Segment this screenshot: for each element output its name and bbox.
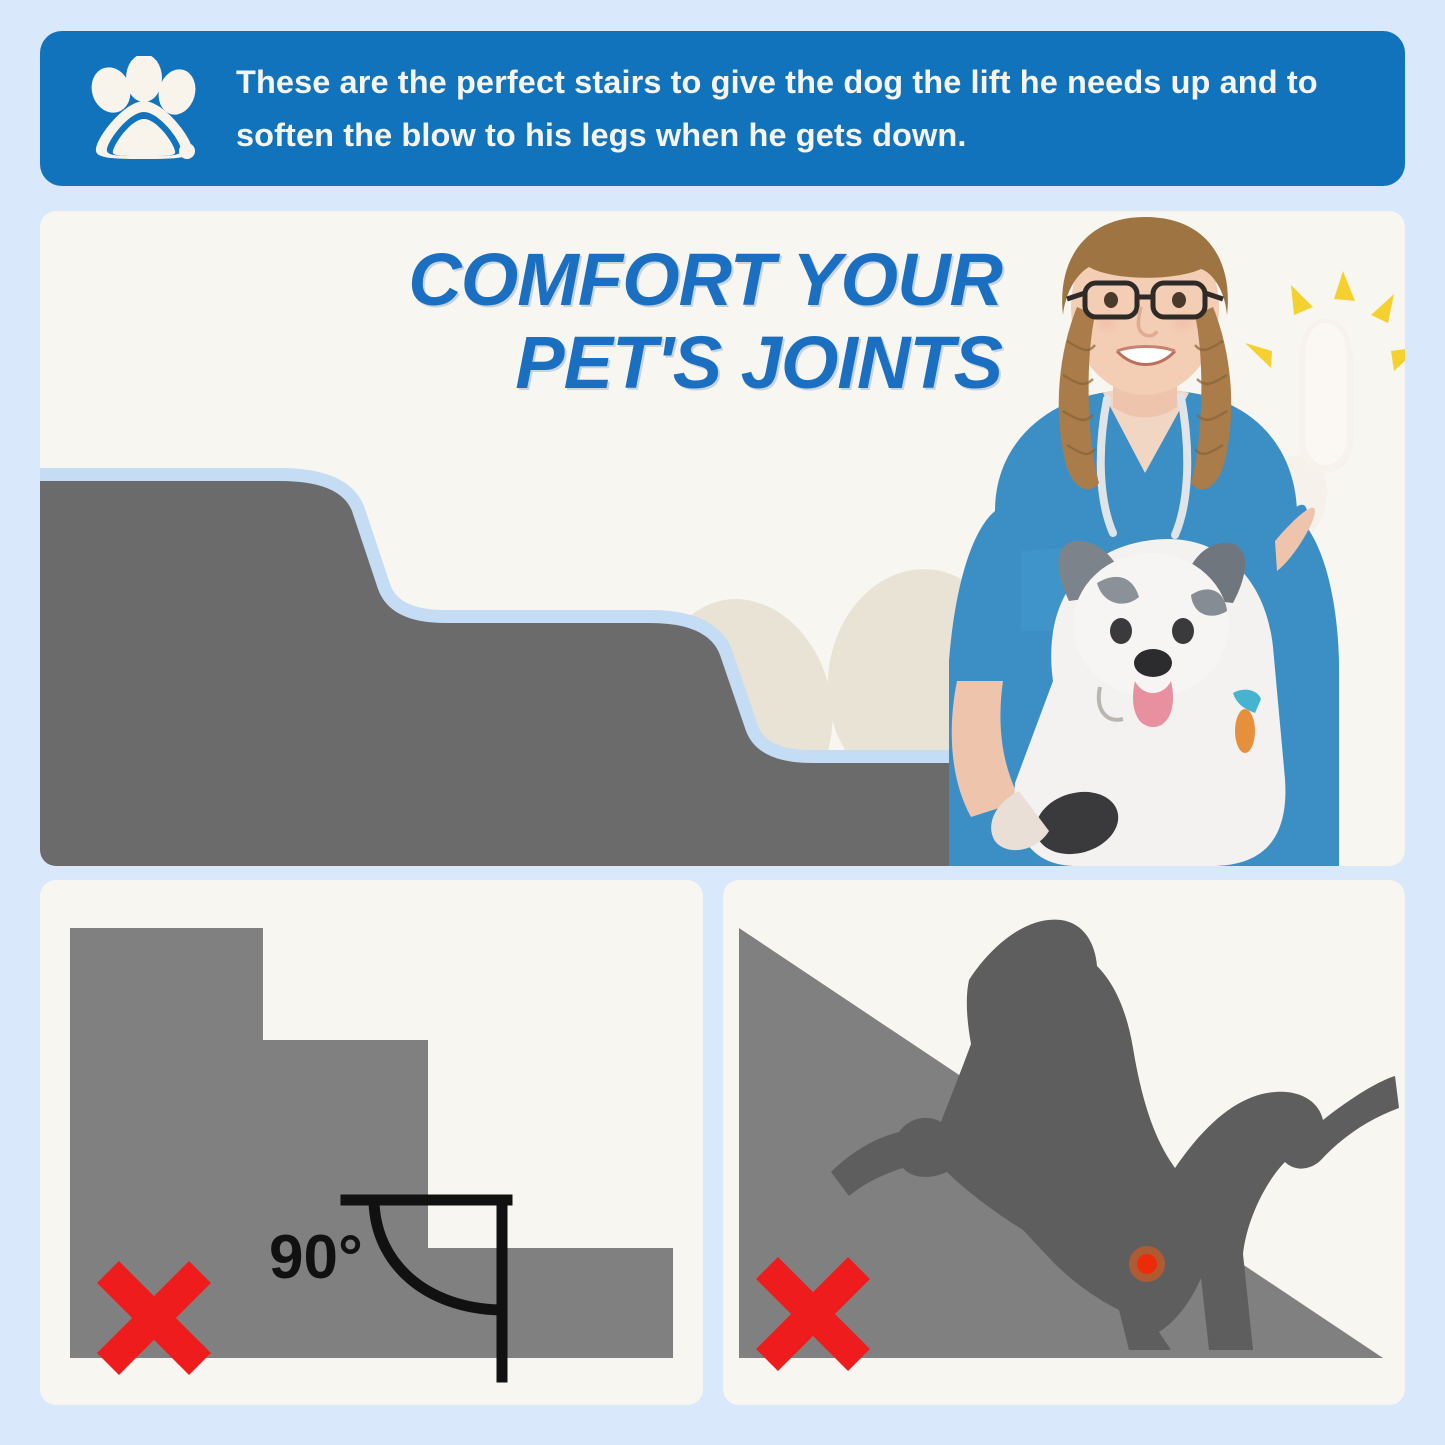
angle-label: 90° <box>269 1223 363 1292</box>
paw-print-icon <box>88 56 200 161</box>
product-infographic: These are the perfect stairs to give the… <box>0 0 1445 1445</box>
dog-tag <box>1235 709 1255 753</box>
bad-example-ramp-card <box>723 880 1405 1405</box>
banner-text: These are the perfect stairs to give the… <box>236 56 1371 161</box>
bad-example-stairs-card: 90° 90° <box>40 880 703 1405</box>
headline-banner: These are the perfect stairs to give the… <box>40 31 1405 186</box>
sharp-step-illustration: 90° <box>40 880 703 1405</box>
dog-nose <box>1134 649 1172 677</box>
steep-ramp-illustration <box>723 880 1405 1405</box>
dog-eye-right <box>1172 618 1194 644</box>
page-title: COMFORT YOUR PET'S JOINTS <box>40 239 1002 405</box>
hero-card: COMFORT YOUR PET'S JOINTS <box>40 211 1405 866</box>
joint-pain-indicator <box>1137 1254 1157 1274</box>
dog-eye-left <box>1110 618 1132 644</box>
